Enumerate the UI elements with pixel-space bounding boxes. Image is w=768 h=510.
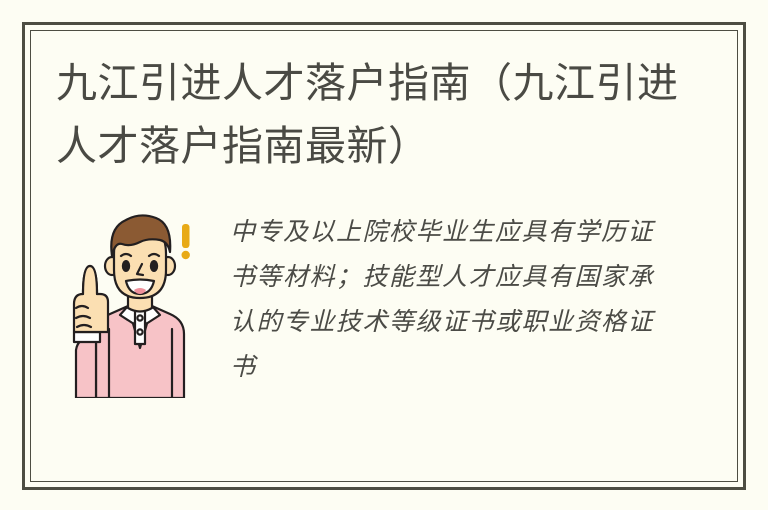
poster-card: 九江引进人才落户指南（九江引进人才落户指南最新） xyxy=(0,0,768,510)
pointing-person-illustration xyxy=(52,198,222,398)
content-row: 中专及以上院校毕业生应具有学历证书等材料；技能型人才应具有国家承认的专业技术等级… xyxy=(52,198,692,408)
body-paragraph: 中专及以上院校毕业生应具有学历证书等材料；技能型人才应具有国家承认的专业技术等级… xyxy=(230,210,670,390)
page-title: 九江引进人才落户指南（九江引进人才落户指南最新） xyxy=(56,52,696,178)
exclamation-icon xyxy=(182,224,190,259)
